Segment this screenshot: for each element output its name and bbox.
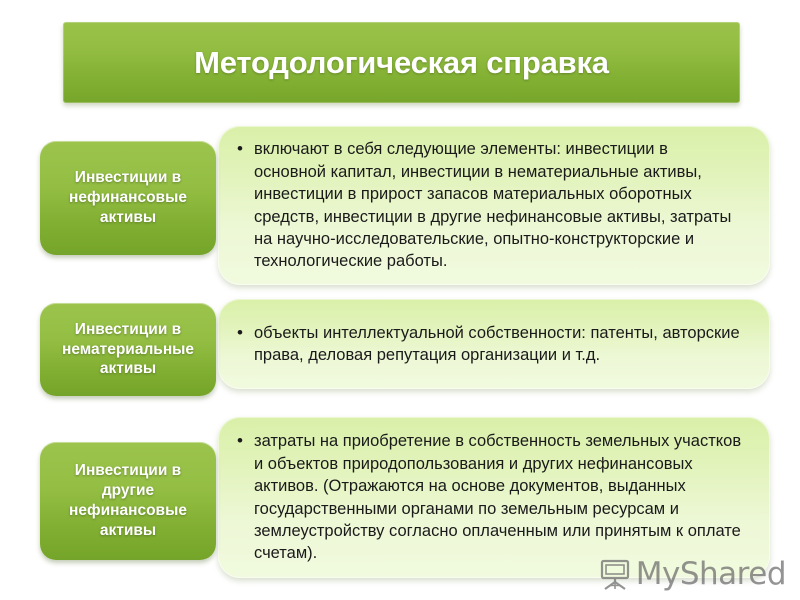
bullet-item: объекты интеллектуальной собственности: … (254, 322, 744, 367)
bullet-item: затраты на приобретение в собственность … (254, 430, 744, 565)
row-label-intangible-assets[interactable]: Инвестиции в нематериальные активы (40, 303, 216, 396)
row-label-text: Инвестиции в нематериальные активы (48, 320, 208, 379)
bullet-item: включают в себя следующие элементы: инве… (254, 138, 744, 273)
page-title: Методологическая справка (194, 45, 609, 81)
page-title-banner: Методологическая справка (63, 22, 740, 103)
bullet-list: включают в себя следующие элементы: инве… (234, 138, 744, 273)
row-content-intangible-assets[interactable]: объекты интеллектуальной собственности: … (218, 299, 770, 389)
bullet-list: объекты интеллектуальной собственности: … (234, 322, 744, 367)
bullet-list: затраты на приобретение в собственность … (234, 430, 744, 565)
row-content-nonfinancial-assets[interactable]: включают в себя следующие элементы: инве… (218, 126, 770, 285)
row-label-other-nonfinancial-assets[interactable]: Инвестиции в другие нефинансовые активы (40, 442, 216, 560)
row-label-nonfinancial-assets[interactable]: Инвестиции в нефинансовые активы (40, 141, 216, 255)
watermark-label: MyShared (636, 556, 786, 592)
row-label-text: Инвестиции в нефинансовые активы (48, 168, 208, 227)
presentation-screen-icon (599, 559, 631, 590)
row-content-other-nonfinancial-assets[interactable]: затраты на приобретение в собственность … (218, 417, 770, 578)
myshared-watermark: MyShared (599, 556, 786, 592)
row-label-text: Инвестиции в другие нефинансовые активы (48, 461, 208, 540)
